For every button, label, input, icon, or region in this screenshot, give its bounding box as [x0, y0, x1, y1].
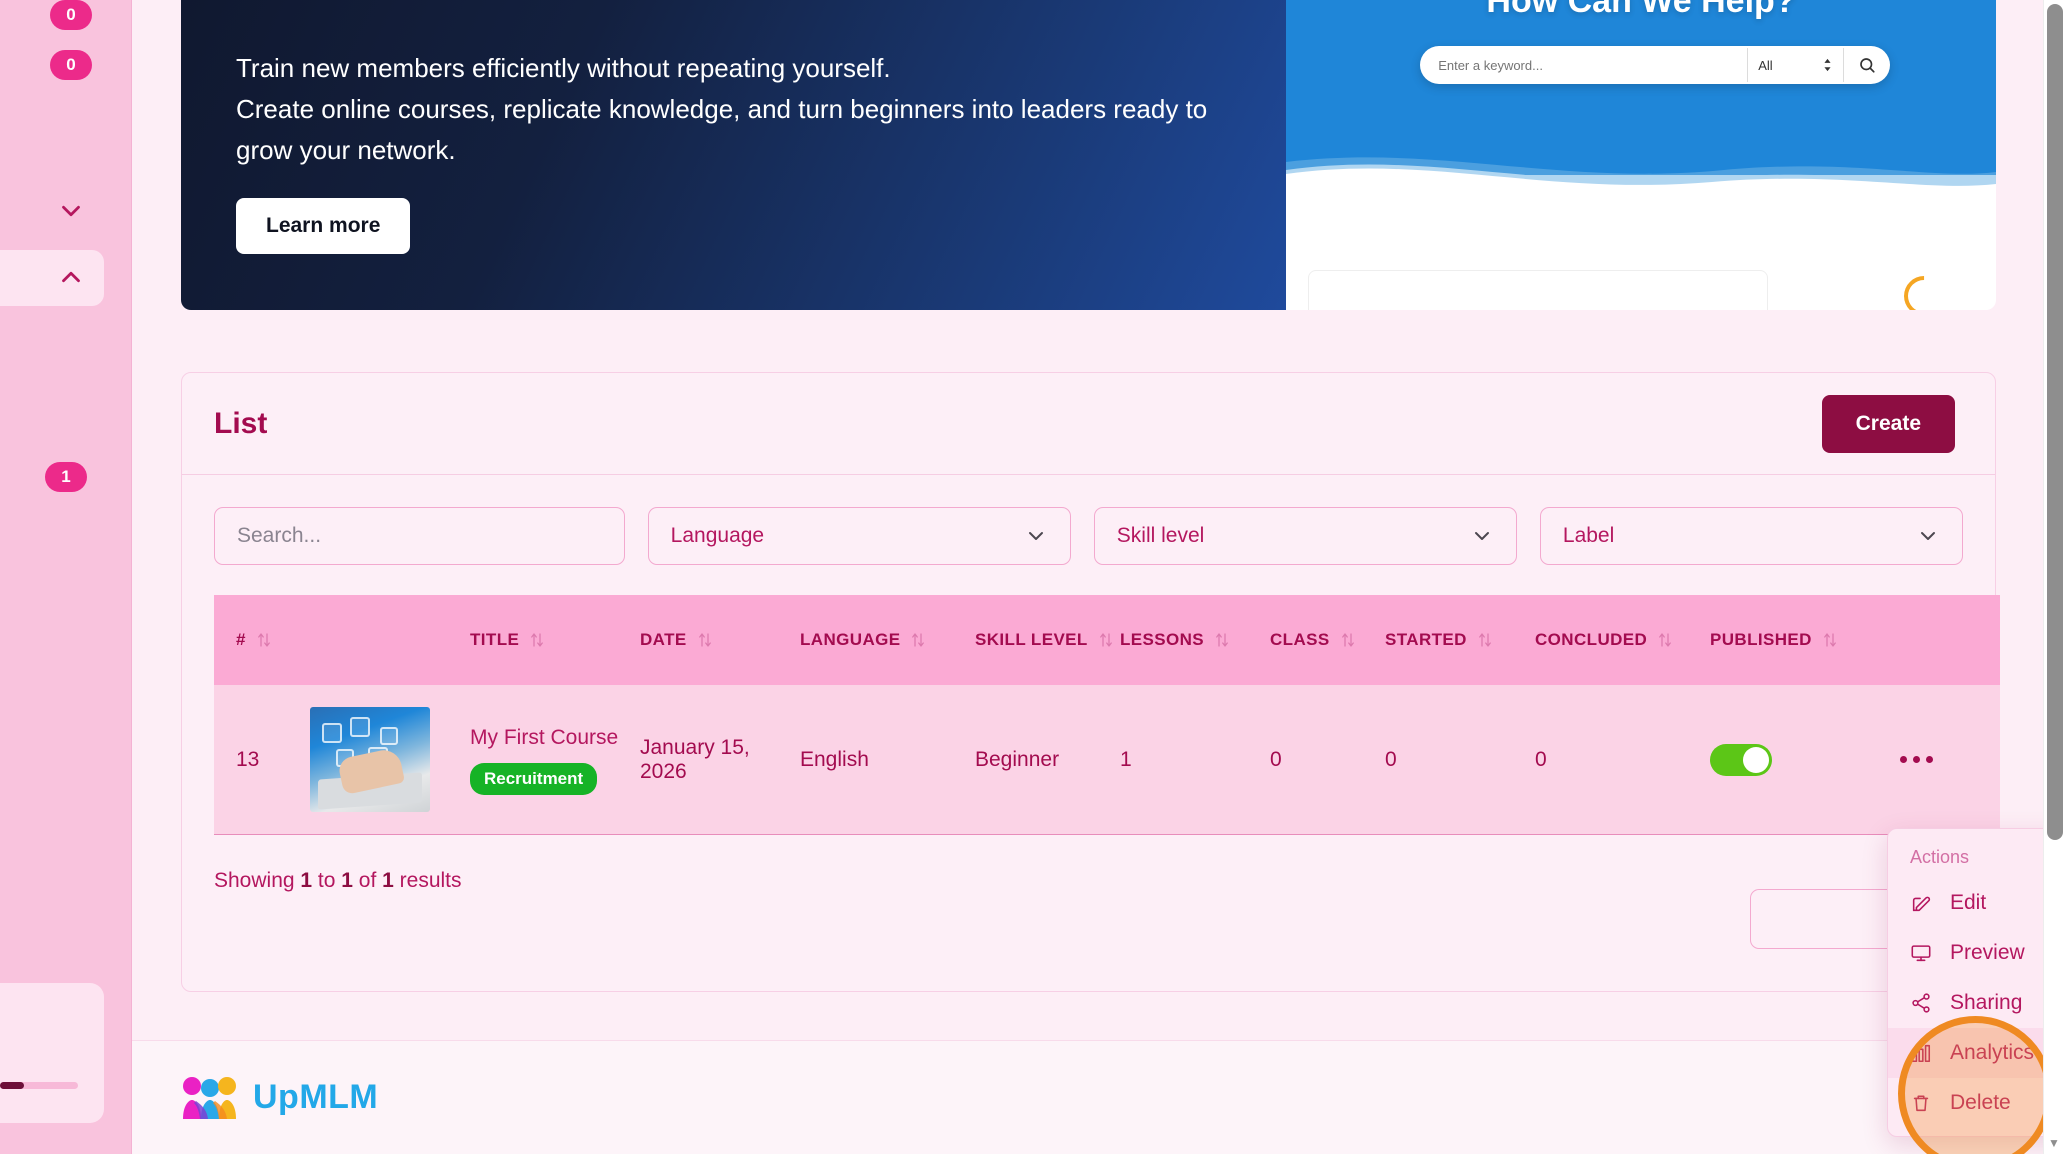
column-header-num[interactable]: #: [214, 595, 310, 685]
edit-icon: [1910, 892, 1934, 914]
cell-lessons: 1: [1120, 685, 1270, 835]
results-prefix: Showing: [214, 869, 300, 892]
results-mid-1: to: [312, 869, 341, 892]
course-list-card: List Create Language Skill level Label: [181, 372, 1996, 992]
column-header-language[interactable]: LANGUAGE: [800, 595, 975, 685]
cell-skill-level: Beginner: [975, 685, 1120, 835]
sort-icon: [1213, 631, 1231, 649]
cell-num: 13: [214, 685, 310, 835]
footer: UpMLM: [132, 1040, 2065, 1154]
sort-icon: [1097, 631, 1115, 649]
brand-name: UpMLM: [253, 1078, 378, 1117]
help-scope-value: All: [1758, 58, 1772, 73]
sort-icon: [1476, 631, 1494, 649]
promo-banner-left: Train new members efficiently without re…: [181, 0, 1286, 310]
table-body: 13: [214, 685, 2000, 835]
cell-date: January 15, 2026: [640, 685, 800, 835]
bar-chart-icon: [1910, 1042, 1934, 1064]
chevron-up-icon[interactable]: [56, 262, 86, 292]
sort-icon: [1656, 631, 1674, 649]
dot: [1926, 756, 1933, 763]
language-select[interactable]: Language: [648, 507, 1071, 565]
menu-item-label: Delete: [1950, 1091, 2011, 1115]
menu-item-label: Analytics: [1950, 1041, 2034, 1065]
cell-concluded: 0: [1535, 685, 1710, 835]
results-total: 1: [382, 869, 394, 892]
course-thumbnail[interactable]: [310, 707, 430, 812]
course-title-link[interactable]: My First Course: [470, 724, 640, 752]
cell-published: [1710, 685, 1900, 835]
help-panel-title: How Can We Help?: [1286, 0, 1996, 21]
app-root: 0 0 1 Train new members efficiently with…: [0, 0, 2065, 1154]
column-header-class[interactable]: CLASS: [1270, 595, 1385, 685]
results-suffix: results: [394, 869, 462, 892]
column-label: DATE: [640, 630, 687, 650]
sort-icon: [255, 631, 273, 649]
sidebar-progress-fill: [0, 1082, 24, 1089]
courses-table-wrap: # TITLE DATE LANGUAGE SKILL LEVEL LESSON…: [182, 565, 1995, 835]
column-header-skill-level[interactable]: SKILL LEVEL: [975, 595, 1120, 685]
menu-item-analytics[interactable]: Analytics: [1888, 1028, 2065, 1078]
toggle-knob: [1743, 747, 1769, 773]
upmlm-logo-icon: [181, 1075, 239, 1121]
table-head: # TITLE DATE LANGUAGE SKILL LEVEL LESSON…: [214, 595, 2000, 685]
cell-started: 0: [1385, 685, 1535, 835]
column-header-thumb: [310, 595, 470, 685]
skill-level-select-value: Skill level: [1117, 524, 1205, 548]
chevron-down-icon: [1024, 524, 1048, 548]
promo-line-2: Create online courses, replicate knowled…: [236, 89, 1246, 130]
courses-table: # TITLE DATE LANGUAGE SKILL LEVEL LESSON…: [214, 595, 2000, 835]
sidebar-progress-card: [0, 983, 104, 1123]
column-label: LESSONS: [1120, 630, 1204, 650]
sort-icon: [1821, 631, 1839, 649]
dot: [1913, 756, 1920, 763]
column-header-published[interactable]: PUBLISHED: [1710, 595, 1900, 685]
column-label: LANGUAGE: [800, 630, 900, 650]
main-content: Train new members efficiently without re…: [132, 0, 2065, 1154]
loading-spinner-icon: [1896, 268, 1953, 310]
table-header-row: # TITLE DATE LANGUAGE SKILL LEVEL LESSON…: [214, 595, 2000, 685]
cell-language: English: [800, 685, 975, 835]
menu-item-label: Preview: [1950, 941, 2025, 965]
promo-line-1: Train new members efficiently without re…: [236, 48, 1246, 89]
help-wave-decoration: [1286, 140, 1996, 210]
chevron-down-icon: [1916, 524, 1940, 548]
column-label: PUBLISHED: [1710, 630, 1812, 650]
row-actions-button[interactable]: [1900, 756, 2000, 763]
page-scrollbar[interactable]: ▼: [2043, 0, 2065, 1154]
sidebar-badge-3[interactable]: 1: [45, 462, 87, 492]
actions-menu-heading: Actions: [1888, 839, 2065, 878]
share-icon: [1910, 992, 1934, 1014]
results-from: 1: [300, 869, 312, 892]
column-header-date[interactable]: DATE: [640, 595, 800, 685]
help-panel: How Can We Help? All: [1286, 0, 1996, 310]
thumb-deco: [350, 717, 370, 737]
column-header-concluded[interactable]: CONCLUDED: [1535, 595, 1710, 685]
search-field[interactable]: [214, 507, 625, 565]
menu-item-edit[interactable]: Edit: [1888, 878, 2065, 928]
cell-title: My First Course Recruitment: [470, 685, 640, 835]
promo-banner: Train new members efficiently without re…: [181, 0, 1996, 310]
sidebar-badge-2[interactable]: 0: [50, 50, 92, 80]
sidebar: 0 0 1: [0, 0, 132, 1154]
menu-item-sharing[interactable]: Sharing: [1888, 978, 2065, 1028]
help-scope-select[interactable]: All: [1748, 58, 1843, 73]
column-label: CLASS: [1270, 630, 1330, 650]
column-label: STARTED: [1385, 630, 1467, 650]
scroll-down-arrow-icon[interactable]: ▼: [2048, 1136, 2060, 1150]
sidebar-badge-1[interactable]: 0: [50, 0, 92, 30]
menu-item-label: Sharing: [1950, 991, 2022, 1015]
chevron-down-icon[interactable]: [56, 196, 86, 226]
search-icon[interactable]: [1844, 56, 1890, 74]
column-label: #: [236, 630, 246, 650]
help-result-card: [1308, 270, 1768, 310]
sort-icon: [696, 631, 714, 649]
sort-icon: [1339, 631, 1357, 649]
scrollbar-thumb[interactable]: [2047, 4, 2063, 840]
monitor-icon: [1910, 942, 1934, 964]
column-label: SKILL LEVEL: [975, 630, 1088, 650]
sidebar-active-item[interactable]: [0, 250, 104, 306]
dot: [1900, 756, 1907, 763]
brand-logo[interactable]: UpMLM: [181, 1075, 378, 1121]
column-label: TITLE: [470, 630, 519, 650]
column-header-title[interactable]: TITLE: [470, 595, 640, 685]
help-search-input[interactable]: [1420, 58, 1747, 73]
table-row: 13: [214, 685, 2000, 835]
updown-arrows-icon: [1822, 58, 1833, 72]
results-summary: Showing 1 to 1 of 1 results: [182, 835, 1995, 939]
promo-line-3: grow your network.: [236, 130, 1246, 171]
help-search-bar[interactable]: All: [1420, 46, 1890, 84]
menu-item-label: Edit: [1950, 891, 1986, 915]
trash-icon: [1910, 1092, 1934, 1114]
cell-actions: [1900, 685, 2000, 835]
menu-item-preview[interactable]: Preview: [1888, 928, 2065, 978]
create-button[interactable]: Create: [1822, 395, 1955, 453]
chevron-down-icon: [1470, 524, 1494, 548]
sort-icon: [909, 631, 927, 649]
label-select-value: Label: [1563, 524, 1614, 548]
published-toggle[interactable]: [1710, 744, 1772, 776]
thumb-deco: [322, 723, 342, 743]
language-select-value: Language: [671, 524, 764, 548]
label-select[interactable]: Label: [1540, 507, 1963, 565]
cell-thumbnail: [310, 685, 470, 835]
cell-class: 0: [1270, 685, 1385, 835]
thumb-deco: [380, 727, 398, 745]
skill-level-select[interactable]: Skill level: [1094, 507, 1517, 565]
learn-more-button[interactable]: Learn more: [236, 198, 410, 254]
sort-icon: [528, 631, 546, 649]
actions-dropdown-menu: Actions Edit Preview Sharing Analytics D…: [1887, 828, 2065, 1137]
column-header-actions: [1900, 595, 2000, 685]
list-header: List Create: [182, 373, 1995, 475]
results-mid-2: of: [353, 869, 382, 892]
results-to: 1: [341, 869, 353, 892]
status-badge: Recruitment: [470, 763, 597, 795]
page-title: List: [214, 407, 267, 441]
column-header-started[interactable]: STARTED: [1385, 595, 1535, 685]
search-input[interactable]: [237, 524, 602, 548]
filter-bar: Language Skill level Label: [182, 475, 1995, 565]
menu-item-delete[interactable]: Delete: [1888, 1078, 2065, 1128]
column-header-lessons[interactable]: LESSONS: [1120, 595, 1270, 685]
column-label: CONCLUDED: [1535, 630, 1647, 650]
